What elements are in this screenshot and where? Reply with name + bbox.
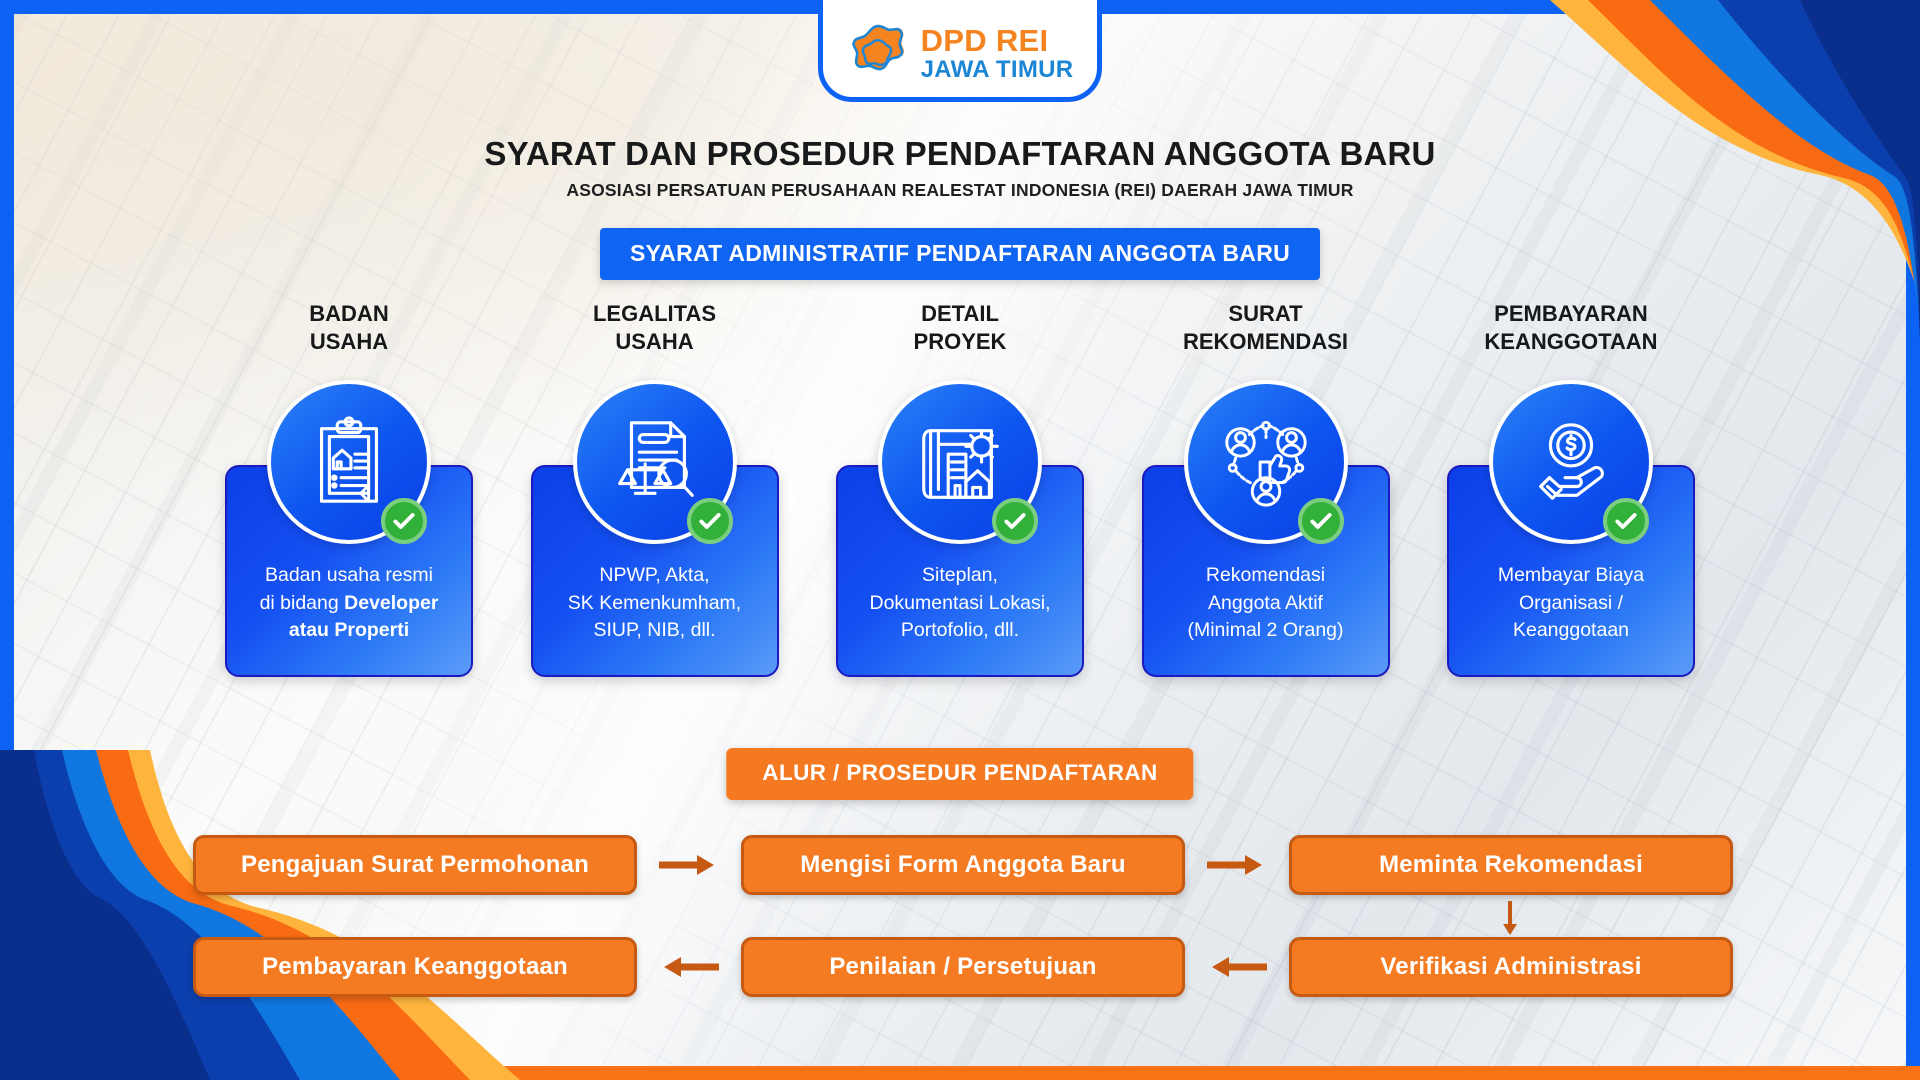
flow-row-bottom: Pembayaran Keanggotaan Penilaian / Perse… <box>193 937 1733 997</box>
requirements-row: BADAN USAHA Badan usaha resmidi bidang D… <box>225 300 1695 677</box>
requirement-card-wrap: Badan usaha resmidi bidang Developeratau… <box>225 380 473 677</box>
requirement-card-text: Siteplan,Dokumentasi Lokasi,Portofolio, … <box>869 562 1050 645</box>
check-badge-icon <box>1613 508 1639 534</box>
flow-section-banner: ALUR / PROSEDUR PENDAFTARAN <box>726 748 1193 800</box>
rei-seal-icon <box>847 23 909 85</box>
flow-arrow-down-wrap <box>1501 901 1531 937</box>
check-badge-icon <box>697 508 723 534</box>
flow-step-verifikasi-administrasi[interactable]: Verifikasi Administrasi <box>1289 937 1733 997</box>
hand-coin-icon <box>1522 413 1620 511</box>
requirement-card-wrap: NPWP, Akta,SK Kemenkumham,SIUP, NIB, dll… <box>531 380 779 677</box>
header-titles: SYARAT DAN PROSEDUR PENDAFTARAN ANGGOTA … <box>0 135 1920 201</box>
requirement-card-text: NPWP, Akta,SK Kemenkumham,SIUP, NIB, dll… <box>568 562 741 645</box>
requirement-card-wrap: Membayar BiayaOrganisasi /Keanggotaan <box>1447 380 1695 677</box>
requirement-column-pembayaran-keanggotaan: PEMBAYARAN KEANGGOTAAN Membayar BiayaOrg… <box>1447 300 1695 677</box>
requirement-heading-line-2: USAHA <box>593 328 716 356</box>
requirement-column-surat-rekomendasi: SURAT REKOMENDASI RekomendasiAnggota Akt… <box>1142 300 1390 677</box>
requirement-column-badan-usaha: BADAN USAHA Badan usaha resmidi bidang D… <box>225 300 473 677</box>
requirement-heading: PEMBAYARAN KEANGGOTAAN <box>1484 300 1657 360</box>
flow-step-pembayaran-keanggotaan[interactable]: Pembayaran Keanggotaan <box>193 937 637 997</box>
check-badge-icon <box>1002 508 1028 534</box>
check-badge-icon <box>391 508 417 534</box>
page-title: SYARAT DAN PROSEDUR PENDAFTARAN ANGGOTA … <box>0 135 1920 173</box>
arrow-left-icon <box>1207 954 1267 980</box>
requirement-column-detail-proyek: DETAIL PROYEK Siteplan,Dokumentasi Lokas… <box>836 300 1084 677</box>
arrow-left-icon <box>659 954 719 980</box>
flow-arrow-right-1 <box>637 852 741 878</box>
requirement-card-wrap: Siteplan,Dokumentasi Lokasi,Portofolio, … <box>836 380 1084 677</box>
frame-border-bottom <box>0 1066 1920 1080</box>
flow-row-top: Pengajuan Surat Permohonan Mengisi Form … <box>193 835 1733 895</box>
clipboard-house-icon <box>300 413 398 511</box>
requirement-card-text: Badan usaha resmidi bidang Developeratau… <box>260 562 439 645</box>
requirement-heading: LEGALITAS USAHA <box>593 300 716 360</box>
page-subtitle: ASOSIASI PERSATUAN PERUSAHAAN REALESTAT … <box>0 180 1920 201</box>
blueprint-gear-icon <box>911 413 1009 511</box>
admin-requirements-banner: SYARAT ADMINISTRATIF PENDAFTARAN ANGGOTA… <box>600 228 1320 280</box>
document-scales-magnifier-icon <box>606 413 704 511</box>
flow-step-pengajuan-surat-permohonan[interactable]: Pengajuan Surat Permohonan <box>193 835 637 895</box>
requirement-check-badge <box>1298 498 1344 544</box>
logo-line-2: JAWA TIMUR <box>921 58 1074 82</box>
requirement-heading: DETAIL PROYEK <box>914 300 1007 360</box>
people-network-thumbsup-icon <box>1217 413 1315 511</box>
requirement-heading-line-2: PROYEK <box>914 328 1007 356</box>
check-badge-icon <box>1308 508 1334 534</box>
requirement-check-badge <box>992 498 1038 544</box>
requirement-column-legalitas-usaha: LEGALITAS USAHA NPWP, Akta,SK Kemenkumha… <box>531 300 779 677</box>
arrow-right-icon <box>1207 852 1267 878</box>
requirement-heading-line-2: KEANGGOTAAN <box>1484 328 1657 356</box>
flow-step-mengisi-form-anggota-baru[interactable]: Mengisi Form Anggota Baru <box>741 835 1185 895</box>
logo-wordmark: DPD REI JAWA TIMUR <box>921 25 1074 85</box>
logo-badge: DPD REI JAWA TIMUR <box>818 0 1102 102</box>
requirement-heading-line-1: BADAN <box>309 300 388 328</box>
requirement-heading-line-2: USAHA <box>309 328 388 356</box>
infographic-canvas: DPD REI JAWA TIMUR SYARAT DAN PROSEDUR P… <box>0 0 1920 1080</box>
requirement-card-text: Membayar BiayaOrganisasi /Keanggotaan <box>1498 562 1644 645</box>
requirement-heading-line-2: REKOMENDASI <box>1183 328 1348 356</box>
requirement-card-wrap: RekomendasiAnggota Aktif(Minimal 2 Orang… <box>1142 380 1390 677</box>
requirement-heading-line-1: PEMBAYARAN <box>1484 300 1657 328</box>
flow-step-penilaian-persetujuan[interactable]: Penilaian / Persetujuan <box>741 937 1185 997</box>
logo-line-1: DPD REI <box>921 25 1074 56</box>
requirement-heading: BADAN USAHA <box>309 300 388 360</box>
requirement-heading-line-1: SURAT <box>1183 300 1348 328</box>
flow-arrow-right-2 <box>1185 852 1289 878</box>
flow-arrow-left-2 <box>1185 954 1289 980</box>
requirement-check-badge <box>687 498 733 544</box>
flow-arrow-left-1 <box>637 954 741 980</box>
requirement-check-badge <box>1603 498 1649 544</box>
requirement-heading-line-1: LEGALITAS <box>593 300 716 328</box>
requirement-heading: SURAT REKOMENDASI <box>1183 300 1348 360</box>
arrow-down-icon <box>1501 901 1519 937</box>
arrow-right-icon <box>659 852 719 878</box>
requirement-heading-line-1: DETAIL <box>914 300 1007 328</box>
requirement-check-badge <box>381 498 427 544</box>
requirement-card-text: RekomendasiAnggota Aktif(Minimal 2 Orang… <box>1187 562 1343 645</box>
flow-step-meminta-rekomendasi[interactable]: Meminta Rekomendasi <box>1289 835 1733 895</box>
